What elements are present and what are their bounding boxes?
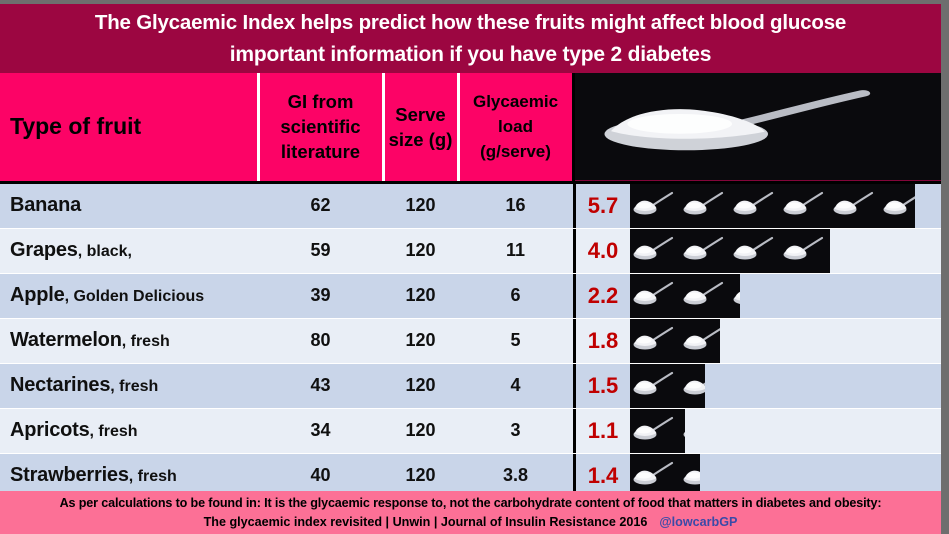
sugar-spoon-icon (730, 274, 740, 318)
cell-serve-size: 120 (383, 228, 458, 273)
fruit-name: Watermelon (10, 329, 122, 351)
table-row: Banana62120165.7 (0, 182, 941, 228)
sugar-spoon-icon (630, 184, 680, 228)
fruit-name: Banana (10, 194, 81, 216)
cell-fruit-name: Banana (0, 182, 258, 228)
fruit-qualifier: , fresh (90, 423, 138, 440)
cell-glycaemic-load: 3 (458, 408, 573, 453)
table-row: Apple, Golden Delicious3912062.2 (0, 273, 941, 318)
sugar-spoon-icon (630, 319, 680, 363)
title-banner: The Glycaemic Index helps predict how th… (0, 4, 941, 73)
table-row: Watermelon, fresh8012051.8 (0, 318, 941, 363)
footer-citation-text: The glycaemic index revisited | Unwin | … (204, 515, 648, 529)
cell-serve-size: 120 (383, 318, 458, 363)
infographic-root: The Glycaemic Index helps predict how th… (0, 0, 949, 534)
sugar-equivalent-value: 4.0 (573, 229, 630, 273)
sugar-spoon-icon (730, 184, 780, 228)
sugar-spoon-icon (680, 274, 730, 318)
spoon-bar (630, 184, 941, 228)
column-header-serve-size: Serve size (g) (383, 73, 458, 182)
sugar-spoon-icon (630, 364, 680, 408)
fruit-name: Strawberries (10, 464, 129, 486)
table-row: Apricots, fresh3412031.1 (0, 408, 941, 453)
cell-glycaemic-load: 4 (458, 363, 573, 408)
spoon-bar (630, 319, 941, 363)
cell-comparison: 2.2 (573, 273, 941, 318)
cell-gi: 34 (258, 408, 383, 453)
sugar-spoon-icon (680, 409, 685, 453)
cell-fruit-name: Grapes, black, (0, 228, 258, 273)
cell-fruit-name: Apple, Golden Delicious (0, 273, 258, 318)
cell-comparison: 1.5 (573, 363, 941, 408)
sugar-spoon-icon (780, 184, 830, 228)
sugar-equivalent-value: 2.2 (573, 274, 630, 318)
sugar-spoon-icon (830, 184, 880, 228)
fruit-qualifier: , fresh (110, 378, 158, 395)
sugar-equivalent-value: 1.8 (573, 319, 630, 363)
table-header: Type of fruit GI from scientific literat… (0, 73, 941, 182)
cell-gi: 39 (258, 273, 383, 318)
twitter-handle: @lowcarbGP (659, 515, 737, 529)
sugar-spoon-icon (630, 229, 680, 273)
fruit-qualifier: , fresh (122, 333, 170, 350)
fruit-name: Apricots (10, 419, 90, 441)
cell-serve-size: 120 (383, 182, 458, 228)
cell-glycaemic-load: 16 (458, 182, 573, 228)
fruit-qualifier: , fresh (129, 468, 177, 485)
fruit-qualifier: , Golden Delicious (65, 288, 205, 305)
sugar-equivalent-value: 5.7 (573, 184, 630, 228)
sugar-spoon-icon (680, 364, 705, 408)
column-header-gi: GI from scientific literature (258, 73, 383, 182)
fruit-name: Grapes (10, 239, 78, 261)
column-header-comparison: How does 120g of each fruit affect blood… (573, 73, 941, 182)
sugar-equivalent-value: 1.5 (573, 364, 630, 408)
cell-serve-size: 120 (383, 273, 458, 318)
table-body: Banana62120165.7Grapes, black,59120114.0… (0, 182, 941, 498)
fruit-qualifier: , black, (78, 243, 132, 260)
spoon-bar (630, 364, 941, 408)
sugar-spoon-icon (680, 229, 730, 273)
cell-serve-size: 120 (383, 408, 458, 453)
footer-citation: As per calculations to be found in: It i… (0, 491, 941, 534)
cell-glycaemic-load: 11 (458, 228, 573, 273)
cell-glycaemic-load: 6 (458, 273, 573, 318)
cell-fruit-name: Watermelon, fresh (0, 318, 258, 363)
footer-line-2: The glycaemic index revisited | Unwin | … (0, 513, 941, 532)
title-line-1: The Glycaemic Index helps predict how th… (0, 7, 941, 39)
header-row: Type of fruit GI from scientific literat… (0, 73, 941, 182)
sugar-spoon-icon (780, 229, 830, 273)
sugar-equivalent-value: 1.1 (573, 409, 630, 453)
column-header-fruit: Type of fruit (0, 73, 258, 182)
cell-gi: 80 (258, 318, 383, 363)
fruit-name: Nectarines (10, 374, 110, 396)
sugar-spoon-icon (730, 229, 780, 273)
footer-line-1: As per calculations to be found in: It i… (0, 494, 941, 513)
cell-comparison: 1.8 (573, 318, 941, 363)
sugar-spoon-icon (880, 184, 915, 228)
table-row: Grapes, black,59120114.0 (0, 228, 941, 273)
cell-comparison: 5.7 (573, 182, 941, 228)
gi-table: Type of fruit GI from scientific literat… (0, 73, 941, 499)
column-header-glycaemic-load: Glycaemic load (g/serve) (458, 73, 573, 182)
sugar-spoon-icon (630, 274, 680, 318)
cell-serve-size: 120 (383, 363, 458, 408)
cell-gi: 62 (258, 182, 383, 228)
cell-gi: 43 (258, 363, 383, 408)
spoon-bar (630, 274, 941, 318)
spoon-bar (630, 229, 941, 273)
sugar-spoon-icon (680, 319, 720, 363)
cell-gi: 59 (258, 228, 383, 273)
title-line-2: important information if you have type 2… (0, 39, 941, 71)
fruit-name: Apple (10, 284, 65, 306)
spoon-bar (630, 409, 941, 453)
cell-comparison: 4.0 (573, 228, 941, 273)
sugar-spoon-icon (630, 409, 680, 453)
gi-table-container: Type of fruit GI from scientific literat… (0, 73, 941, 491)
sugar-spoon-icon (680, 184, 730, 228)
cell-fruit-name: Apricots, fresh (0, 408, 258, 453)
table-row: Nectarines, fresh4312041.5 (0, 363, 941, 408)
sugar-spoon-icon (646, 133, 702, 170)
cell-comparison: 1.1 (573, 408, 941, 453)
cell-glycaemic-load: 5 (458, 318, 573, 363)
cell-fruit-name: Nectarines, fresh (0, 363, 258, 408)
